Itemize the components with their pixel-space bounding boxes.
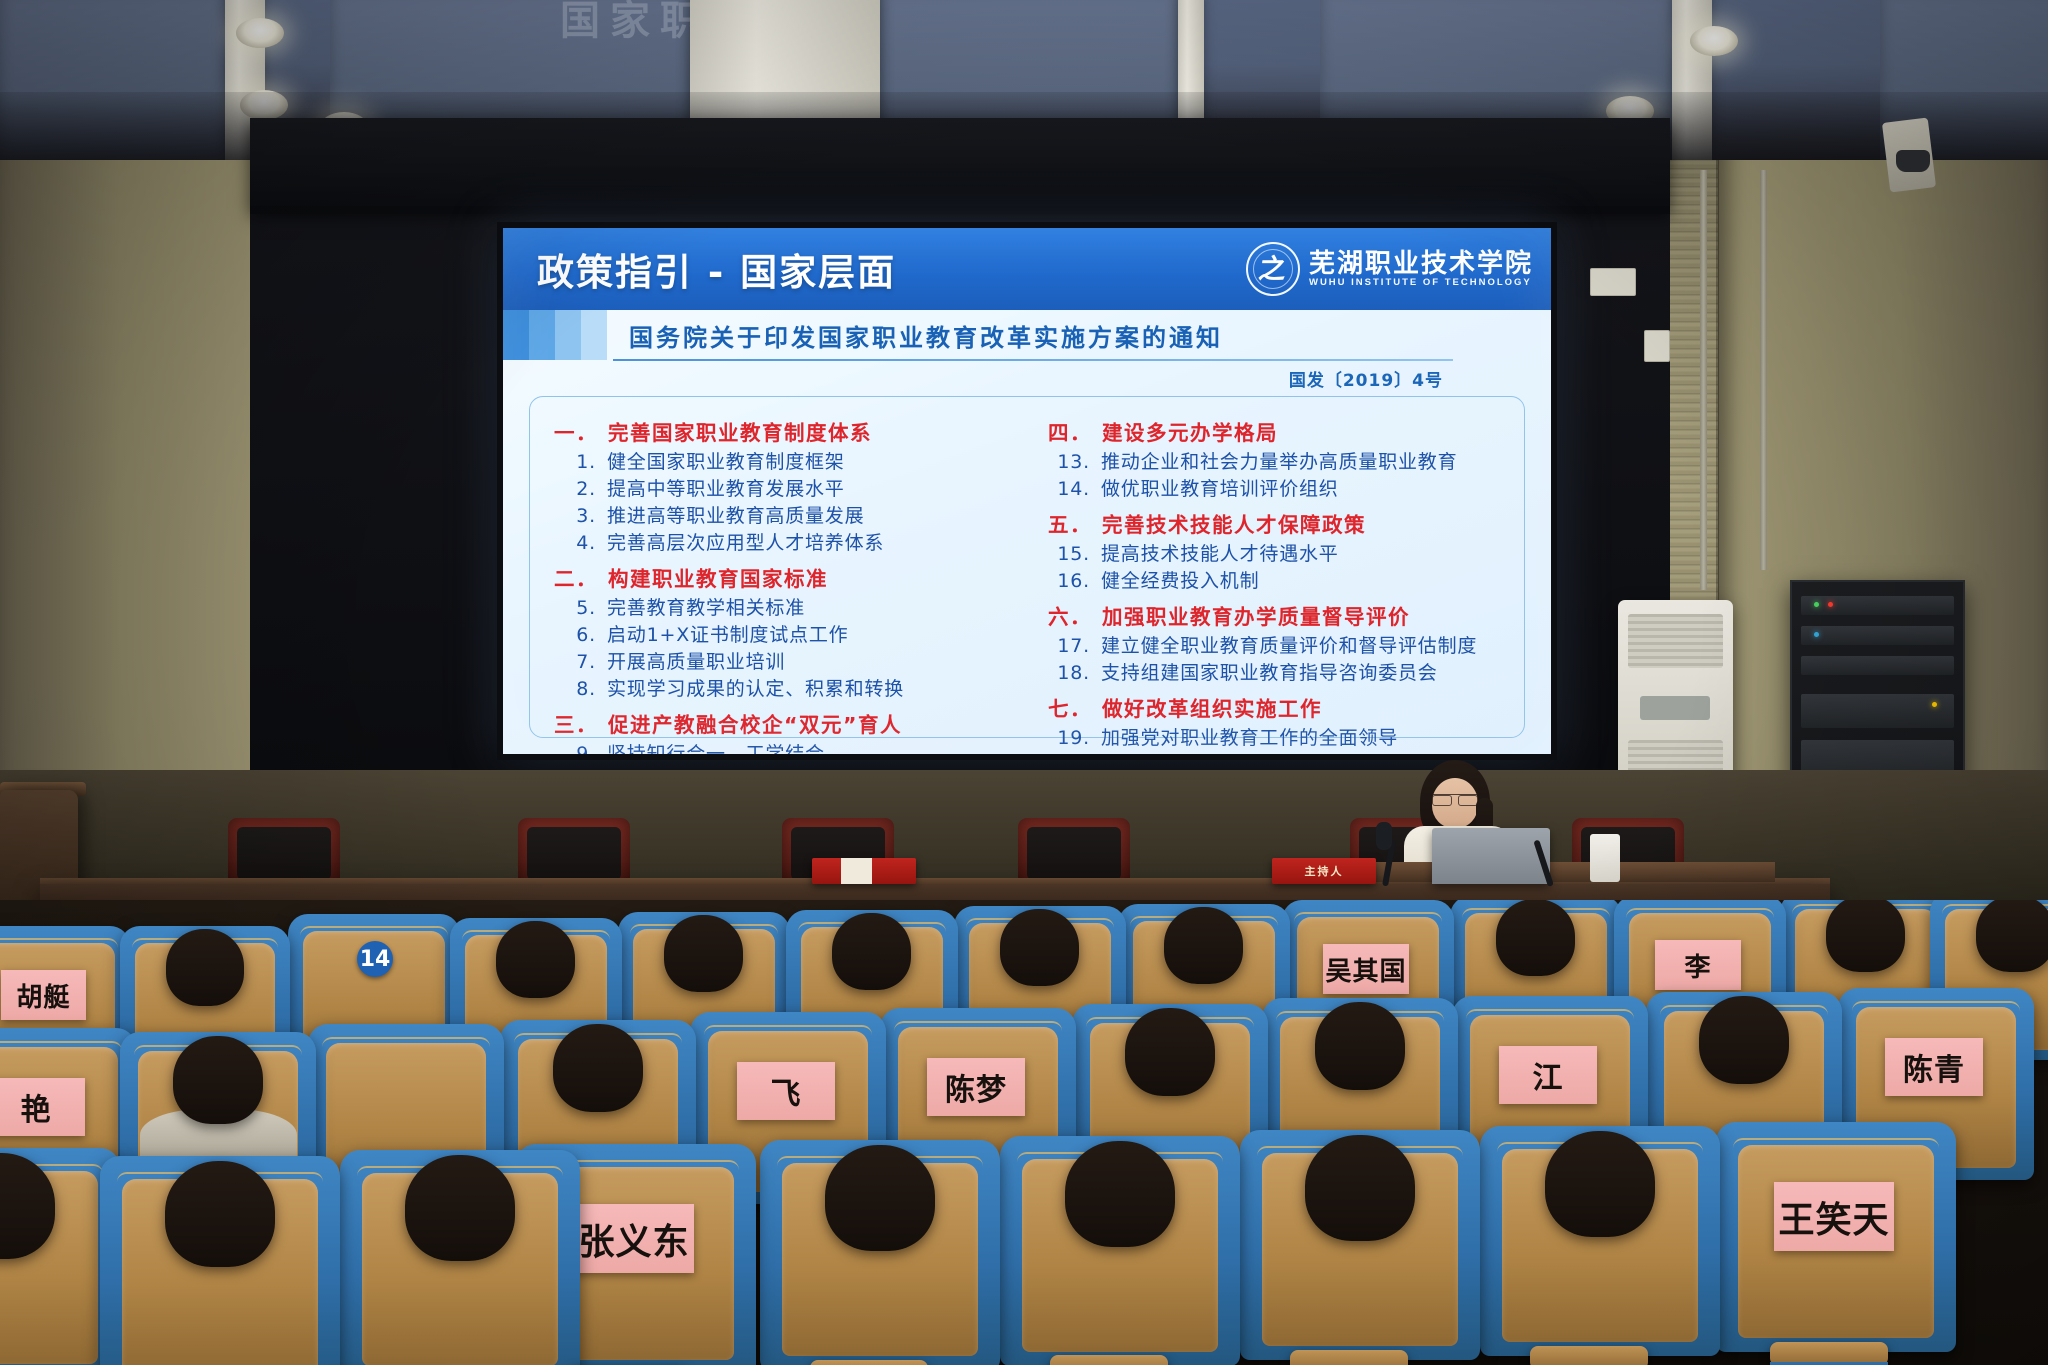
list-item-text: 加强党对职业教育工作的全面领导 [1101,725,1398,752]
seat-number-badge: 14 [357,941,393,977]
slide-content-panel: 一．完善国家职业教育制度体系1.健全国家职业教育制度框架2.提高中等职业教育发展… [529,396,1525,738]
slide-list-item: 20.建立国务院职业教育工作部际联席会议制度 [1048,752,1510,754]
ceiling-downlight [236,18,284,48]
document-number: 国发〔2019〕4号 [1289,366,1443,391]
ceiling-downlight [1690,26,1738,56]
list-item-number: 17. [1048,633,1090,660]
list-item-number: 9. [554,741,596,754]
list-item-text: 提高技术技能人才待遇水平 [1101,541,1339,568]
heading-text: 完善国家职业教育制度体系 [608,421,872,445]
seat-trim [704,1025,873,1035]
status-led [1814,632,1819,637]
attendee-name-card: 胡艇 [1,970,86,1020]
list-item-number: 8. [554,676,596,703]
seat-trim [1626,908,1774,918]
wall-light-switch[interactable] [1644,330,1670,362]
paper-cup [1590,834,1620,882]
audience-member [496,921,575,998]
slide-subtitle-band: 国务院关于印发国家职业教育改革实施方案的通知 [503,310,1551,360]
seat-armrest [1050,1355,1168,1365]
attendee-name-card: 江 [1499,1046,1597,1104]
emblem-glyph: 之 [1258,256,1289,283]
slide-list-item: 15.提高技术技能人才待遇水平 [1048,541,1510,568]
seat-armrest [1770,1342,1888,1365]
institution-name: 芜湖职业技术学院 WUHU INSTITUTE OF TECHNOLOGY [1309,251,1533,288]
seat-trim [1294,912,1442,922]
subtitle-swatch [555,310,581,360]
slide-list-item: 9.坚持知行合一、工学结合 [554,741,1016,754]
audience-member [1699,996,1789,1084]
audience-member [763,900,832,906]
audience-member [165,1161,275,1267]
rack-unit [1801,694,1954,728]
seat-armrest [1290,1350,1408,1365]
subtitle-swatch [503,310,529,360]
glasses-icon [1432,794,1478,803]
security-camera-icon [1896,150,1930,172]
heading-text: 构建职业教育国家标准 [608,567,828,591]
list-item-number: 7. [554,649,596,676]
audience-member [1167,900,1236,902]
audience-member [1305,1135,1415,1241]
attendee-name-card: 吴其国 [1323,944,1409,994]
wall-conduit [1700,170,1707,590]
heading-number: 五． [1048,513,1092,537]
list-item-text: 健全国家职业教育制度框架 [607,449,845,476]
attendee-name-card: 艳 [0,1078,85,1136]
laptop[interactable] [1432,828,1550,884]
seat-trim [322,1037,491,1047]
seat-trim [894,1021,1063,1031]
heading-text: 建设多元办学格局 [1102,421,1278,445]
seat-trim [1852,1001,2021,1011]
seat-trim [0,1041,122,1051]
slide-column-right: 四．建设多元办学格局13.推动企业和社会力量举办高质量职业教育14.做优职业教育… [1022,411,1516,729]
audience-member [1164,907,1243,984]
slide-list-item: 5.完善教育教学相关标准 [554,595,1016,622]
list-item-number: 6. [554,622,596,649]
attendee-name-card: 李 [1655,940,1741,990]
heading-text: 做好改革组织实施工作 [1102,697,1322,721]
heading-number: 四． [1048,421,1092,445]
list-item-number: 19. [1048,725,1090,752]
list-item-text: 健全经费投入机制 [1101,568,1259,595]
list-item-text: 开展高质量职业培训 [607,649,785,676]
audience-member [489,900,559,902]
audience-member [1000,909,1079,986]
seat-armrest [1530,1346,1648,1365]
slide-section-heading: 五．完善技术技能人才保障政策 [1048,508,1510,538]
audience-member [1976,900,2048,972]
slide-list-item: 16.健全经费投入机制 [1048,568,1510,595]
nameplate-moderator: 主持人 [1272,858,1376,884]
subtitle-swatch [581,310,607,360]
heading-number: 一． [554,421,598,445]
seat-trim [1466,1009,1635,1019]
list-item-number: 3. [554,503,596,530]
heading-text: 完善技术技能人才保障政策 [1102,513,1366,537]
slide-list-item: 3.推进高等职业教育高质量发展 [554,503,1016,530]
audience-member [664,915,743,992]
list-item-number: 5. [554,595,596,622]
slide-list-item: 17.建立健全职业教育质量评价和督导评估制度 [1048,633,1510,660]
list-item-text: 推进高等职业教育高质量发展 [607,503,864,530]
slide-list-item: 14.做优职业教育培训评价组织 [1048,476,1510,503]
stage-chair[interactable] [518,818,630,886]
list-item-text: 支持组建国家职业教育指导咨询委员会 [1101,660,1438,687]
presentation-slide: 政策指引 - 国家层面 之 芜湖职业技术学院 WUHU INSTITUTE OF… [503,228,1551,754]
list-item-text: 建立健全职业教育质量评价和督导评估制度 [1101,633,1477,660]
status-led [1814,602,1819,607]
list-item-number: 4. [554,530,596,557]
attendee-name-card: 王笑天 [1774,1182,1894,1251]
subtitle-swatch [529,310,555,360]
screen-soffit [250,118,1670,210]
list-item-number: 16. [1048,568,1090,595]
slide-list-item: 8.实现学习成果的认定、积累和转换 [554,676,1016,703]
heading-number: 二． [554,567,598,591]
heading-number: 七． [1048,697,1092,721]
rack-unit [1801,626,1954,645]
list-item-number: 20. [1048,752,1090,754]
slide-section-heading: 三．促进产教融合校企“双元”育人 [554,708,1016,738]
ac-control-panel[interactable] [1640,696,1710,720]
list-item-text: 启动1+X证书制度试点工作 [607,622,848,649]
list-item-number: 1. [554,449,596,476]
projection-screen: 政策指引 - 国家层面 之 芜湖职业技术学院 WUHU INSTITUTE OF… [497,222,1557,760]
audience-member [553,1024,643,1112]
heading-text: 加强职业教育办学质量督导评价 [1102,605,1410,629]
stage-chair[interactable] [228,818,340,886]
rack-unit [1801,596,1954,615]
heading-text: 促进产教融合校企“双元”育人 [608,713,902,737]
list-item-number: 18. [1048,660,1090,687]
slide-list-item: 2.提高中等职业教育发展水平 [554,476,1016,503]
audience-member [1125,1008,1215,1096]
list-item-text: 建立国务院职业教育工作部际联席会议制度 [1101,752,1477,754]
slide-subtitle: 国务院关于印发国家职业教育改革实施方案的通知 [629,318,1223,353]
slide-section-heading: 一．完善国家职业教育制度体系 [554,416,1016,446]
wall-conduit [1760,170,1767,570]
microphone-head-icon [1376,822,1392,850]
seat-trim [0,938,118,948]
attendee-name-card: 陈青 [1885,1038,1983,1096]
attendee-name-card: 张义东 [574,1204,694,1273]
institution-logo: 之 芜湖职业技术学院 WUHU INSTITUTE OF TECHNOLOGY [1246,242,1533,296]
soffit-trim [250,206,1670,214]
lecture-hall-photo: 国家职业 政策指引 - 国家层面 之 芜湖职业技术学院 [0,0,2048,1365]
list-item-number: 15. [1048,541,1090,568]
institution-name-en: WUHU INSTITUTE OF TECHNOLOGY [1309,278,1533,288]
slide-section-heading: 二．构建职业教育国家标准 [554,562,1016,592]
heading-number: 三． [554,713,598,737]
seat-trim [1733,1138,1939,1148]
institution-name-cn: 芜湖职业技术学院 [1309,251,1533,278]
audience-seating: 101214江98刘李汝平76唐小丽3胡艇14吴其国7李艳飞陈梦江陈青张义东王笑… [0,900,2048,1365]
list-item-text: 提高中等职业教育发展水平 [607,476,845,503]
audience-member [173,1036,263,1124]
heading-number: 六． [1048,605,1092,629]
audience-member [31,900,100,917]
list-item-text: 做优职业教育培训评价组织 [1101,476,1339,503]
list-item-text: 实现学习成果的认定、积累和转换 [607,676,904,703]
wall-outlet-plate [1590,268,1636,296]
slide-title: 政策指引 - 国家层面 [537,242,896,296]
audience-member [825,1145,935,1251]
audience-member [1496,900,1575,976]
list-item-text: 坚持知行合一、工学结合 [607,741,825,754]
slide-list-item: 13.推动企业和社会力量举办高质量职业教育 [1048,449,1510,476]
slide-list-item: 18.支持组建国家职业教育指导咨询委员会 [1048,660,1510,687]
slide-section-heading: 七．做好改革组织实施工作 [1048,692,1510,722]
status-led [1828,602,1833,607]
audience-member [341,900,411,902]
list-item-text: 推动企业和社会力量举办高质量职业教育 [1101,449,1457,476]
status-led [1932,702,1937,707]
stage-chair[interactable] [1018,818,1130,886]
nameplate [812,858,916,884]
audience-member [166,929,244,1006]
list-item-text: 完善教育教学相关标准 [607,595,805,622]
slide-list-item: 1.健全国家职业教育制度框架 [554,449,1016,476]
slide-title-bar: 政策指引 - 国家层面 之 芜湖职业技术学院 WUHU INSTITUTE OF… [503,228,1551,310]
ac-vent [1628,614,1723,668]
attendee-name-card: 飞 [737,1062,835,1120]
seat-trim [300,926,448,936]
slide-section-heading: 四．建设多元办学格局 [1048,416,1510,446]
slide-section-heading: 六．加强职业教育办学质量督导评价 [1048,600,1510,630]
list-item-number: 13. [1048,449,1090,476]
slide-list-item: 4.完善高层次应用型人才培养体系 [554,530,1016,557]
list-item-number: 14. [1048,476,1090,503]
rack-unit [1801,656,1954,675]
audience-member [832,913,911,990]
audience-member [897,900,966,902]
seat-armrest [810,1360,928,1365]
audience-member [1315,1002,1405,1090]
audience-member [405,1155,515,1261]
slide-list-item: 6.启动1+X证书制度试点工作 [554,622,1016,649]
attendee-name-card: 陈梦 [927,1058,1025,1116]
list-item-number: 2. [554,476,596,503]
audience-member [1545,1131,1655,1237]
subtitle-rule [613,359,1453,361]
slide-column-left: 一．完善国家职业教育制度体系1.健全国家职业教育制度框架2.提高中等职业教育发展… [538,411,1022,729]
slide-list-item: 19.加强党对职业教育工作的全面领导 [1048,725,1510,752]
list-item-text: 完善高层次应用型人才培养体系 [607,530,884,557]
audience-member [1826,900,1905,972]
audience-member [1065,1141,1175,1247]
university-emblem-icon: 之 [1246,242,1300,296]
slide-list-item: 7.开展高质量职业培训 [554,649,1016,676]
auditorium-seat[interactable]: 王笑天 [1716,1122,1956,1352]
